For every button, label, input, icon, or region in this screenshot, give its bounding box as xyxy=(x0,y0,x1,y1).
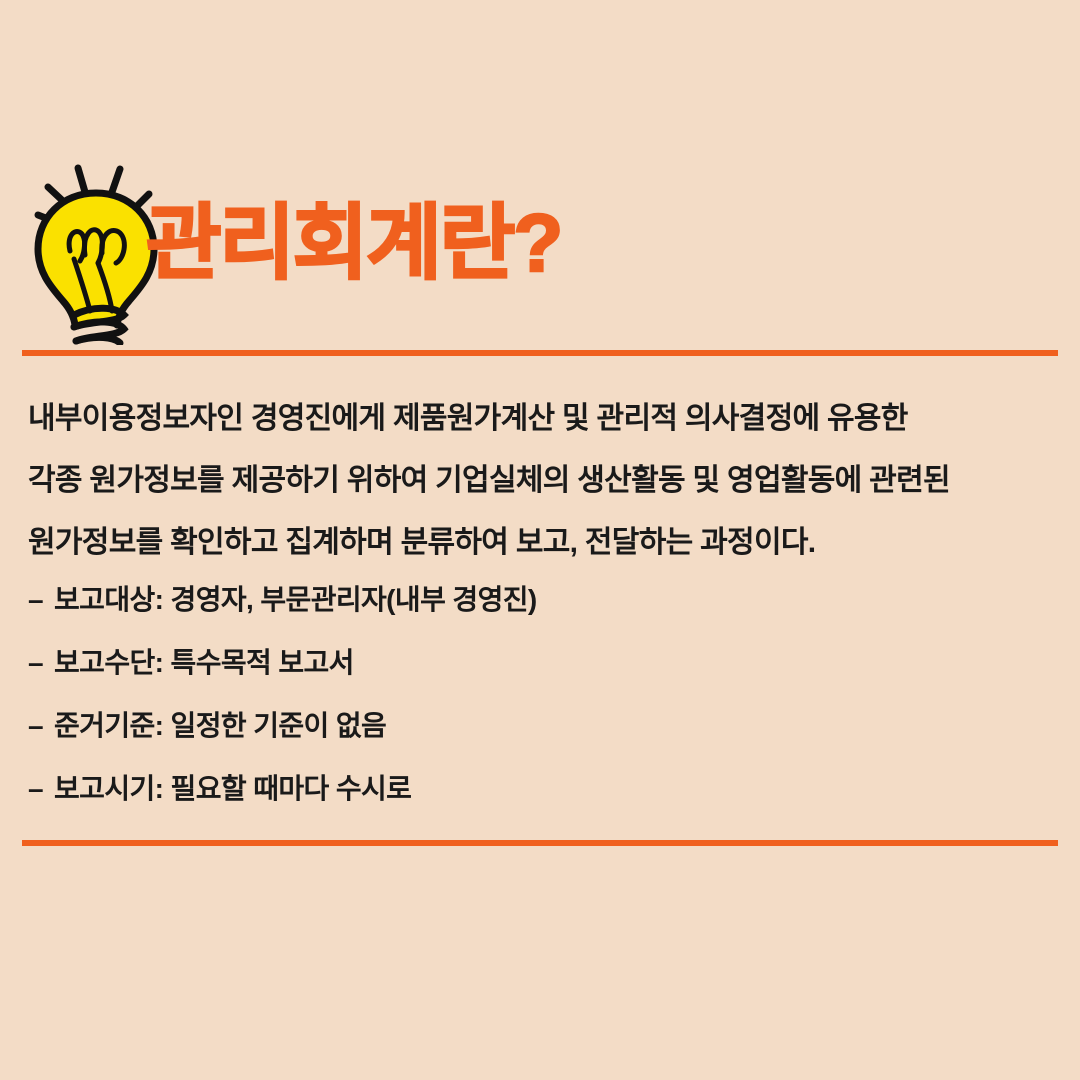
list-item-label: 보고대상: 경영자, 부문관리자(내부 경영진) xyxy=(54,578,537,618)
divider-bottom xyxy=(22,840,1058,846)
definition-paragraph: 내부이용정보자인 경영진에게 제품원가계산 및 관리적 의사결정에 유용한 각종… xyxy=(28,388,1048,574)
attribute-list: – 보고대상: 경영자, 부문관리자(내부 경영진) – 보고수단: 특수목적 … xyxy=(28,578,1048,830)
list-item-label: 준거기준: 일정한 기준이 없음 xyxy=(54,704,386,744)
card-header: 관리회계란? xyxy=(0,155,1080,345)
list-item: – 보고시기: 필요할 때마다 수시로 xyxy=(28,767,1048,830)
dash-bullet-icon: – xyxy=(28,647,54,679)
dash-bullet-icon: – xyxy=(28,584,54,616)
dash-bullet-icon: – xyxy=(28,710,54,742)
list-item: – 준거기준: 일정한 기준이 없음 xyxy=(28,704,1048,767)
divider-top xyxy=(22,350,1058,356)
info-card: 관리회계란? 내부이용정보자인 경영진에게 제품원가계산 및 관리적 의사결정에… xyxy=(0,0,1080,1080)
list-item: – 보고수단: 특수목적 보고서 xyxy=(28,641,1048,704)
paragraph-line: 각종 원가정보를 제공하기 위하여 기업실체의 생산활동 및 영업활동에 관련된 xyxy=(28,450,1048,512)
paragraph-line: 내부이용정보자인 경영진에게 제품원가계산 및 관리적 의사결정에 유용한 xyxy=(28,388,1048,450)
dash-bullet-icon: – xyxy=(28,773,54,805)
list-item-label: 보고수단: 특수목적 보고서 xyxy=(54,641,354,681)
page-title: 관리회계란? xyxy=(146,203,561,285)
paragraph-line: 원가정보를 확인하고 집계하며 분류하여 보고, 전달하는 과정이다. xyxy=(28,512,1048,574)
list-item: – 보고대상: 경영자, 부문관리자(내부 경영진) xyxy=(28,578,1048,641)
list-item-label: 보고시기: 필요할 때마다 수시로 xyxy=(54,767,411,807)
